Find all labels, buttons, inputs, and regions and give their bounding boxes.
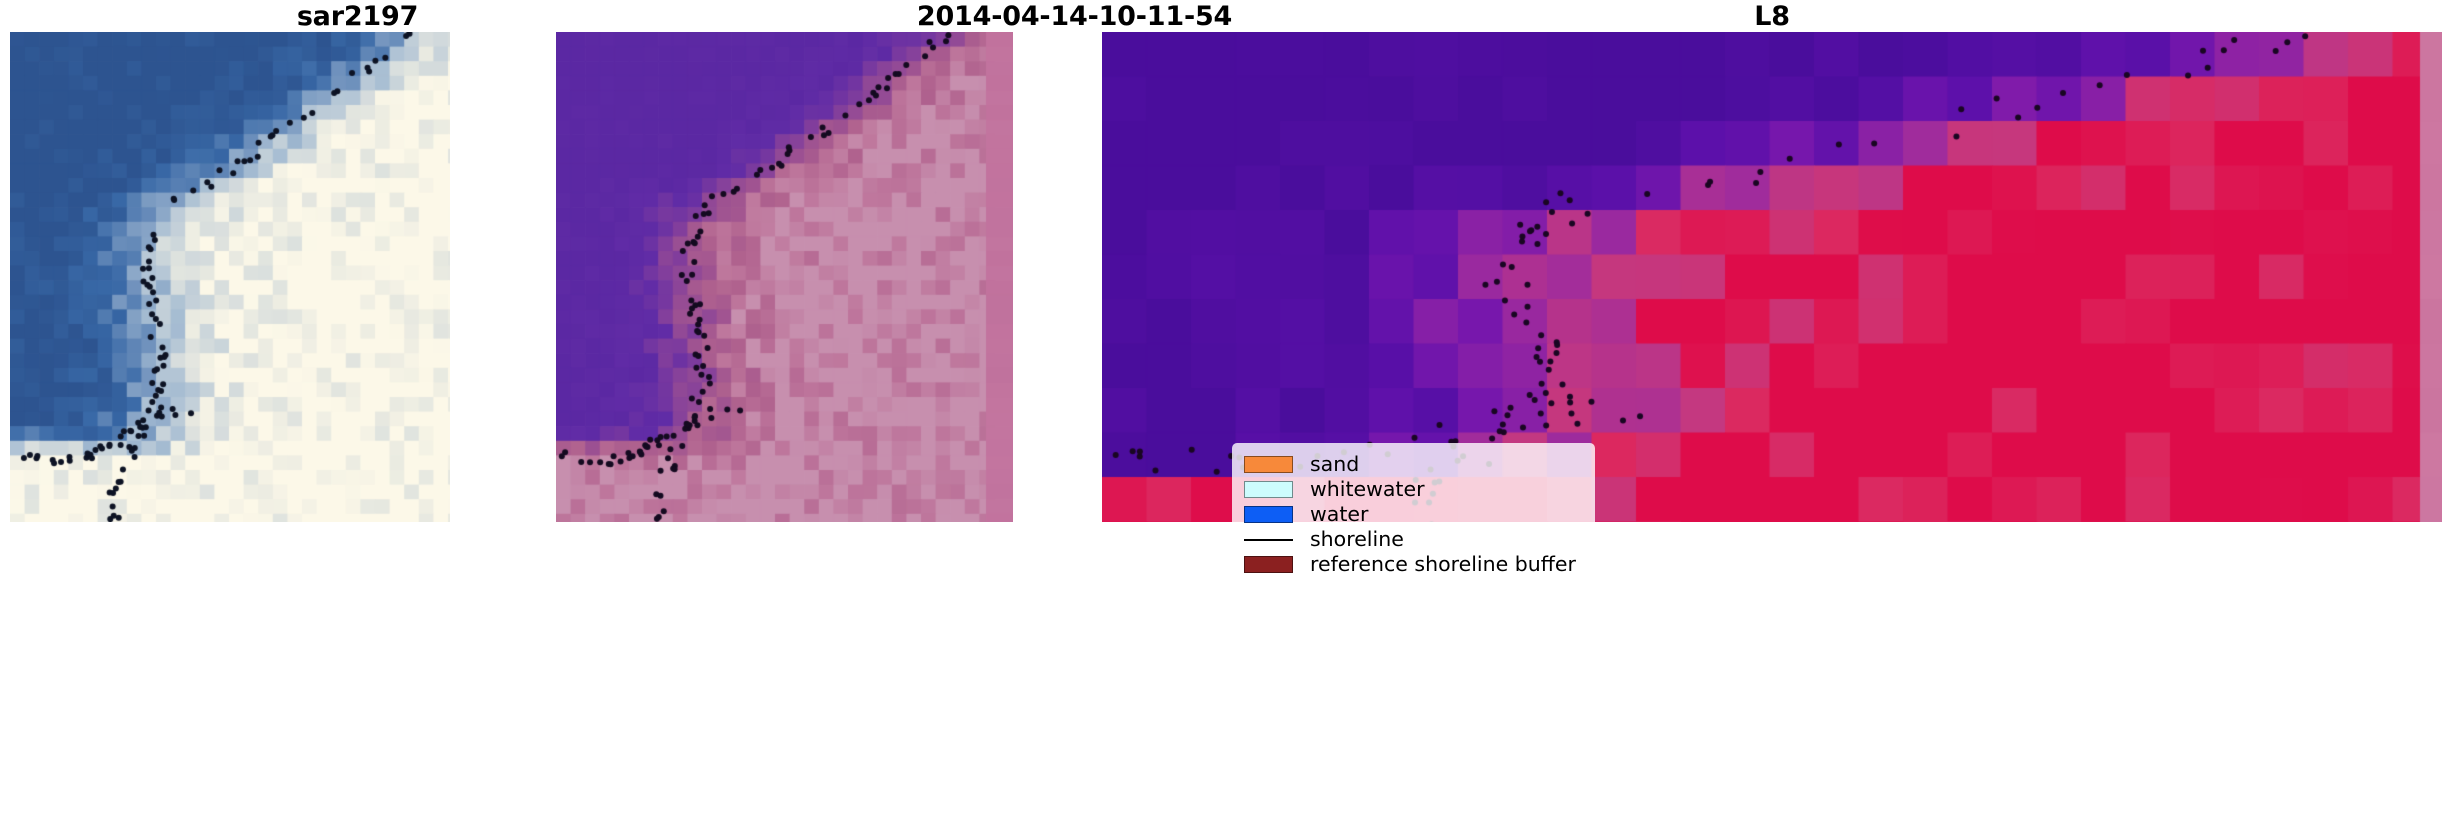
legend-label-water: water xyxy=(1310,502,1368,527)
water-swatch-icon xyxy=(1244,506,1293,523)
axes-sar xyxy=(10,32,450,522)
panel-title-l8: L8 xyxy=(1102,2,2442,32)
legend-item-water: water xyxy=(1244,502,1585,527)
legend-item-reference-buffer: reference shoreline buffer xyxy=(1244,552,1585,577)
shoreline-line-icon xyxy=(1244,531,1293,548)
legend-label-whitewater: whitewater xyxy=(1310,477,1425,502)
axes-date xyxy=(556,32,1013,522)
sar-image xyxy=(10,32,450,522)
reference-buffer-swatch-icon xyxy=(1244,556,1293,573)
legend-label-reference-buffer: reference shoreline buffer xyxy=(1310,552,1576,577)
legend-label-sand: sand xyxy=(1310,452,1359,477)
classified-image xyxy=(556,32,1013,522)
sand-swatch-icon xyxy=(1244,456,1293,473)
panel-l8: L8 xyxy=(1102,0,2442,832)
whitewater-swatch-icon xyxy=(1244,481,1293,498)
legend-label-shoreline: shoreline xyxy=(1310,527,1404,552)
legend-item-sand: sand xyxy=(1244,452,1585,477)
legend-item-shoreline: shoreline xyxy=(1244,527,1585,552)
map-legend: sand whitewater water shoreline referenc… xyxy=(1232,443,1595,586)
legend-item-whitewater: whitewater xyxy=(1244,477,1585,502)
figure-canvas: sar2197 2014-04-14-10-11-54 L8 sand whit… xyxy=(0,0,2460,832)
